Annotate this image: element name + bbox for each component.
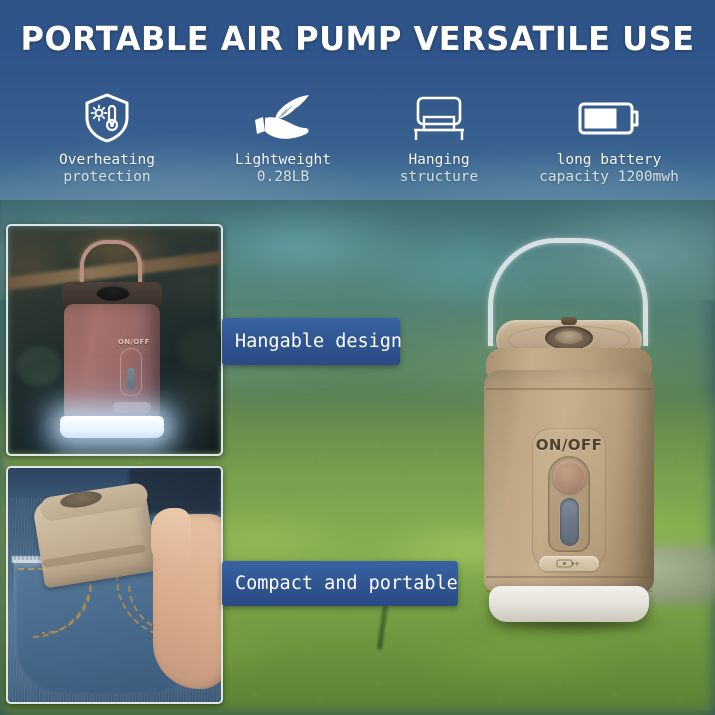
hand-feather-icon	[202, 92, 364, 144]
feature-item-hanging-structure: Hanging structure	[364, 92, 514, 186]
photo-card-hangable[interactable]: ON/OFF	[6, 224, 223, 456]
feature-list: Overheating protection	[0, 92, 715, 186]
feature-label: Overheating protection	[12, 152, 202, 186]
photo-card-compact[interactable]	[6, 466, 223, 704]
foliage-blob	[16, 346, 62, 386]
product-seam	[486, 388, 652, 390]
product-power-button[interactable]	[553, 460, 586, 493]
pump-battery-indicator	[113, 402, 151, 413]
product-seam	[486, 576, 652, 578]
shield-thermometer-icon	[12, 92, 202, 144]
product-base-ring	[489, 586, 649, 622]
foliage-blob	[178, 326, 223, 372]
feature-item-battery-capacity: long battery capacity 1200mwh	[514, 92, 704, 186]
main-product-image: ON/OFF	[455, 238, 680, 650]
product-cap-nub	[561, 317, 577, 325]
feature-label: Lightweight 0.28LB	[202, 152, 364, 186]
pump-nozzle-port	[96, 285, 130, 301]
header-band: PORTABLE AIR PUMP VERSATILE USE	[0, 0, 715, 200]
product-nozzle-inner	[555, 331, 583, 344]
pump-base-light-ring	[60, 416, 164, 438]
feature-label: Hanging structure	[364, 152, 514, 186]
thumb	[151, 508, 191, 568]
page-title: PORTABLE AIR PUMP VERSATILE USE	[11, 22, 705, 55]
pump-slider-slot	[127, 368, 135, 390]
product-onoff-label: ON/OFF	[532, 436, 606, 454]
feature-item-overheating-protection: Overheating protection	[12, 92, 202, 186]
caption-hangable-design: Hangable design	[222, 318, 400, 365]
product-slider-slot[interactable]	[560, 498, 579, 546]
feature-label: long battery capacity 1200mwh	[514, 152, 704, 186]
battery-icon	[514, 92, 704, 144]
caption-compact-portable: Compact and portable	[222, 561, 458, 606]
battery-charge-icon	[556, 559, 582, 568]
product-battery-indicator	[539, 556, 599, 571]
feature-item-lightweight: Lightweight 0.28LB	[202, 92, 364, 186]
pump-onoff-label: ON/OFF	[118, 338, 150, 346]
hanging-hook-icon	[364, 92, 514, 144]
product-marketing-poster: PORTABLE AIR PUMP VERSATILE USE	[0, 0, 715, 715]
